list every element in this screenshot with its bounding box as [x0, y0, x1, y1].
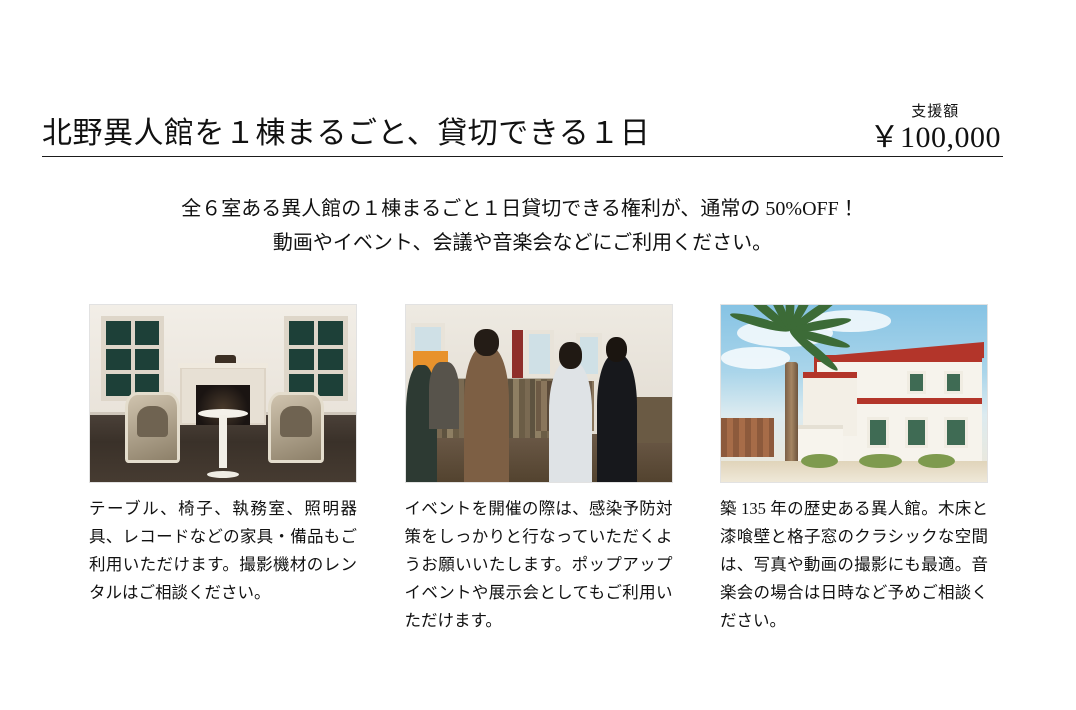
mantel-ornament — [215, 355, 236, 364]
cloud — [721, 347, 790, 368]
antique-armchair-right — [268, 392, 324, 463]
visitor-figure — [429, 362, 458, 429]
green-shutter-window — [905, 417, 929, 449]
window-mullion-horizontal-lower — [106, 370, 160, 374]
subtitle-line-1: 全６室ある異人館の１棟まるごと１日貸切できる権利が、通常の 50%OFF ！ — [42, 192, 1003, 226]
photo-caption: テーブル、椅子、執務室、照明器具、レコードなどの家具・備品もご利用いただけます。… — [89, 495, 357, 607]
support-amount-label: 支援額 — [870, 103, 1002, 121]
subtitle-line-2: 動画やイベント、会議や音楽会などにご利用ください。 — [42, 226, 1003, 260]
round-side-table-stem — [219, 415, 227, 468]
visitor-figure — [549, 362, 592, 482]
popup-clothing-event-photo — [405, 304, 673, 483]
page-title: 北野異人館を１棟まるごと、貸切できる１日 — [42, 115, 650, 157]
visitor-figure — [464, 347, 509, 482]
green-shutter-window — [944, 371, 963, 394]
photo-card: イベントを開催の際は、感染予防対策をしっかりと行なっていただくようお願いいたしま… — [405, 304, 673, 635]
support-amount-block: 支援額 ￥100,000 — [870, 103, 1004, 157]
window-mullion-vertical — [314, 321, 318, 396]
header-divider — [42, 156, 1003, 157]
photo-card: 築 135 年の歴史ある異人館。木床と漆喰壁と格子窓のクラシックな空間は、写真や… — [720, 304, 988, 635]
fireplace-mantel-shelf — [178, 363, 268, 368]
window-mullion-vertical — [131, 321, 135, 396]
shrub — [859, 454, 902, 468]
window-right-icon — [284, 316, 348, 401]
window-mullion-horizontal-upper — [106, 345, 160, 349]
palm-tree-trunk — [785, 362, 798, 465]
window-left-icon — [101, 316, 165, 401]
antique-armchair-left — [125, 392, 181, 463]
green-shutter-window — [944, 417, 968, 449]
classic-room-with-fireplace-photo — [89, 304, 357, 483]
wooden-fence — [721, 418, 774, 457]
shrub — [801, 454, 838, 468]
photo-card-list: テーブル、椅子、執務室、照明器具、レコードなどの家具・備品もご利用いただけます。… — [89, 304, 988, 635]
window-mullion-horizontal-upper — [289, 345, 343, 349]
window-mullion-horizontal-lower — [289, 370, 343, 374]
green-shutter-window — [867, 417, 888, 449]
subtitle: 全６室ある異人館の１棟まるごと１日貸切できる権利が、通常の 50%OFF ！ 動… — [42, 192, 1003, 260]
window-icon — [525, 330, 554, 378]
green-shutter-window — [907, 371, 926, 394]
red-curtain — [512, 330, 523, 383]
photo-card: テーブル、椅子、執務室、照明器具、レコードなどの家具・備品もご利用いただけます。… — [89, 304, 357, 635]
ijinkan-exterior-with-palm-tree-photo — [720, 304, 988, 483]
shrub — [918, 454, 955, 468]
support-amount-value: ￥100,000 — [870, 121, 1002, 156]
photo-caption: 築 135 年の歴史ある異人館。木床と漆喰壁と格子窓のクラシックな空間は、写真や… — [720, 495, 988, 635]
visitor-figure — [597, 355, 637, 482]
header: 北野異人館を１棟まるごと、貸切できる１日 支援額 ￥100,000 — [42, 88, 1003, 156]
photo-caption: イベントを開催の際は、感染予防対策をしっかりと行なっていただくようお願いいたしま… — [405, 495, 673, 635]
